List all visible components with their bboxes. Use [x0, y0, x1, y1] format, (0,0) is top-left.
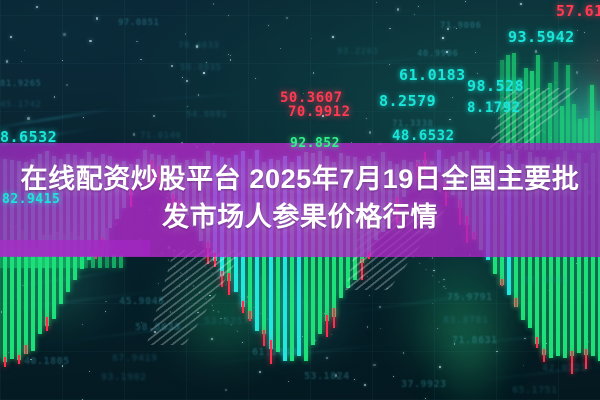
sparkle-dot	[271, 296, 272, 297]
sparkle-dot	[140, 59, 141, 60]
sparkle-dot	[597, 60, 598, 61]
sparkle-dot	[209, 295, 210, 296]
sparkle-dot	[397, 8, 399, 10]
sparkle-dot	[520, 3, 521, 4]
faint-price-label: 54.8891	[186, 110, 227, 120]
light-streak	[470, 364, 600, 382]
sparkle-dot	[475, 52, 476, 53]
candlestick-body	[590, 85, 594, 150]
sparkle-dot	[437, 328, 438, 329]
sparkle-dot	[379, 306, 380, 307]
faint-price-label: 75.9791	[447, 292, 493, 303]
sparkle-dot	[43, 266, 44, 267]
sparkle-dot	[331, 334, 332, 335]
candlestick-body	[536, 55, 540, 150]
candlestick-wick	[270, 340, 272, 364]
sparkle-dot	[302, 336, 303, 337]
sparkle-dot	[442, 37, 443, 38]
candlestick-wick	[501, 279, 503, 286]
sparkle-dot	[449, 119, 450, 120]
candlestick-wick	[326, 315, 328, 337]
sparkle-dot	[153, 115, 154, 116]
sparkle-dot	[432, 303, 433, 304]
sparkle-dot	[432, 257, 433, 258]
sparkle-dot	[257, 304, 258, 305]
sparkle-dot	[584, 32, 585, 33]
sparkle-dot	[322, 115, 323, 116]
sparkle-dot	[213, 3, 214, 4]
candlestick-wick	[333, 308, 335, 327]
sparkle-dot	[179, 286, 180, 287]
faint-price-label: 81.9265	[0, 79, 41, 89]
sparkle-dot	[326, 357, 328, 359]
candlestick-body	[512, 53, 516, 150]
faint-price-label: 65.1751	[512, 385, 558, 396]
sparkle-dot	[403, 352, 404, 353]
sparkle-dot	[228, 54, 229, 55]
banner-image: 97.085193.226340.990658.893581.926545.17…	[0, 0, 600, 400]
title-line-2: 发市场人参果价格行情	[0, 198, 600, 236]
light-streak	[420, 328, 600, 350]
sparkle-dot	[332, 36, 333, 37]
banner-title: 在线配资炒股平台 2025年7月19日全国主要批 发市场人参果价格行情	[0, 160, 600, 236]
sparkle-dot	[389, 28, 390, 29]
sparkle-dot	[54, 96, 55, 97]
faint-price-label: 71.3338	[392, 119, 433, 129]
sparkle-dot	[373, 364, 375, 366]
sparkle-dot	[170, 311, 171, 312]
candlestick-body	[506, 55, 510, 150]
sparkle-dot	[452, 97, 453, 98]
sparkle-dot	[354, 379, 355, 380]
sparkle-dot	[548, 290, 549, 291]
hatched-wedge	[146, 250, 243, 345]
sparkle-dot	[496, 351, 497, 352]
sparkle-dot	[22, 285, 23, 286]
sparkle-dot	[247, 296, 249, 298]
candlestick-wick	[18, 355, 20, 363]
sparkle-dot	[366, 118, 367, 119]
glow-bloom	[240, 260, 360, 360]
candlestick-body	[554, 62, 558, 150]
faint-price-label: 57.4635	[523, 275, 569, 286]
dotted-trend-line	[195, 256, 270, 319]
candlestick-wick	[543, 349, 545, 362]
sparkle-dot	[433, 270, 434, 271]
faint-price-label: 40.1805	[24, 356, 70, 367]
sparkle-dot	[203, 72, 204, 73]
faint-price-label: 97.0851	[118, 18, 159, 28]
sparkle-dot	[570, 337, 571, 338]
sparkle-dot	[324, 313, 325, 314]
candlestick-wick	[571, 351, 573, 374]
sparkle-dot	[446, 51, 447, 52]
sparkle-dot	[220, 318, 221, 319]
sparkle-dot	[89, 40, 91, 42]
price-label: 48.6532	[392, 128, 455, 144]
sparkle-dot	[186, 80, 188, 82]
sparkle-dot	[535, 50, 537, 52]
sparkle-dot	[96, 17, 98, 19]
sparkle-dot	[389, 64, 390, 65]
sparkle-dot	[369, 295, 370, 296]
candlestick-body	[518, 78, 522, 150]
faint-price-label: 58.8935	[180, 63, 221, 73]
sparkle-dot	[577, 30, 578, 31]
faint-price-label: 72.9021	[490, 100, 531, 110]
sparkle-dot	[83, 117, 84, 118]
light-streak	[0, 269, 129, 289]
sparkle-dot	[262, 278, 263, 279]
sparkle-dot	[133, 133, 135, 135]
sparkle-dot	[185, 33, 186, 34]
sparkle-dot	[66, 84, 68, 86]
sparkle-dot	[555, 82, 556, 83]
price-label: 8.1792	[467, 100, 521, 116]
sparkle-dot	[27, 117, 29, 119]
sparkle-dot	[196, 45, 198, 47]
candlestick-wick	[585, 349, 587, 369]
sparkle-dot	[523, 365, 524, 366]
sparkle-dot	[154, 331, 156, 333]
sparkle-dot	[21, 61, 22, 62]
dotted-trend-line	[499, 92, 555, 139]
sparkle-dot	[551, 352, 552, 353]
price-label: 93.5942	[508, 28, 575, 46]
sparkle-dot	[136, 41, 137, 42]
sparkle-dot	[299, 279, 300, 280]
sparkle-dot	[17, 295, 18, 296]
candlestick-wick	[25, 345, 27, 354]
sparkle-dot	[288, 381, 289, 382]
faint-price-label: 79.4033	[178, 41, 219, 51]
faint-price-label: 67.9419	[112, 353, 158, 364]
candlestick-wick	[515, 298, 517, 307]
sparkle-dot	[364, 384, 365, 385]
sparkle-dot	[387, 288, 388, 289]
sparkle-dot	[187, 106, 188, 107]
sparkle-dot	[82, 324, 83, 325]
sparkle-dot	[36, 6, 37, 7]
sparkle-dot	[545, 337, 546, 338]
sparkle-dot	[313, 72, 314, 73]
candlestick-wick	[4, 357, 6, 367]
sparkle-dot	[63, 33, 65, 35]
price-label: 8.2579	[379, 92, 436, 110]
sparkle-dot	[230, 55, 231, 56]
faint-price-label: 45.9045	[119, 296, 165, 307]
sparkle-dot	[198, 94, 199, 95]
sparkle-dot	[311, 38, 312, 39]
candlestick-wick	[228, 273, 230, 295]
faint-price-label: 53.8257	[204, 316, 250, 327]
sparkle-dot	[141, 322, 142, 323]
faint-price-label: 71.6146	[140, 131, 181, 141]
glow-bloom	[440, 355, 500, 400]
sparkle-dot	[447, 28, 448, 29]
sparkle-dot	[367, 276, 368, 277]
faint-price-label: 45.1742	[0, 100, 41, 110]
sparkle-dot	[228, 15, 229, 16]
sparkle-dot	[439, 366, 441, 368]
candlestick-wick	[242, 301, 244, 313]
sparkle-dot	[280, 48, 281, 49]
faint-price-label: 71.9006	[440, 21, 481, 31]
sparkle-dot	[242, 342, 243, 343]
sparkle-dot	[158, 283, 159, 284]
sparkle-dot	[454, 343, 455, 344]
sparkle-dot	[10, 36, 12, 38]
faint-price-label: 42.0723	[542, 363, 588, 374]
glow-bloom	[430, 300, 510, 390]
sparkle-dot	[443, 286, 444, 287]
sparkle-dot	[369, 131, 371, 133]
price-label: 61.0183	[399, 66, 466, 84]
candlestick-wick	[249, 311, 251, 321]
sparkle-dot	[89, 371, 90, 372]
sparkle-dot	[456, 28, 457, 29]
faint-price-label: 37.9923	[401, 379, 447, 390]
sparkle-dot	[105, 301, 106, 302]
sparkle-dot	[580, 267, 581, 268]
sparkle-dot	[552, 98, 553, 99]
sparkle-dot	[24, 307, 25, 308]
candlestick-wick	[263, 330, 265, 347]
sparkle-dot	[62, 365, 63, 366]
sparkle-dot	[320, 272, 321, 273]
price-label: 57.61	[556, 2, 600, 20]
sparkle-dot	[588, 341, 589, 342]
light-streak	[120, 91, 270, 103]
light-streak	[300, 52, 479, 70]
candlestick-wick	[221, 271, 223, 288]
glow-bloom	[575, 40, 600, 110]
sparkle-dot	[393, 376, 394, 377]
sparkle-dot	[171, 65, 173, 67]
sparkle-dot	[576, 71, 578, 73]
sparkle-dot	[433, 139, 434, 140]
sparkle-dot	[303, 93, 304, 94]
faint-price-label: 93.1902	[101, 372, 147, 383]
sparkle-dot	[1, 311, 2, 312]
sparkle-dot	[335, 374, 337, 376]
candlestick-body	[530, 71, 534, 150]
sparkle-dot	[582, 292, 583, 293]
sparkle-dot	[367, 326, 368, 327]
sparkle-dot	[414, 14, 415, 15]
sparkle-dot	[286, 17, 287, 18]
sparkle-dot	[182, 77, 183, 78]
sparkle-dot	[259, 371, 260, 372]
price-label: 98.528	[467, 77, 524, 95]
sparkle-dot	[277, 349, 279, 351]
sparkle-dot	[225, 389, 226, 390]
sparkle-dot	[211, 338, 213, 340]
candlestick-body	[548, 83, 552, 150]
sparkle-dot	[425, 398, 426, 399]
sparkle-dot	[24, 50, 25, 51]
candlestick-wick	[536, 337, 538, 348]
glow-bloom	[380, 250, 540, 380]
price-label: 70.9912	[288, 104, 351, 120]
sparkle-dot	[380, 328, 381, 329]
sparkle-dot	[418, 6, 419, 7]
sparkle-dot	[515, 291, 517, 293]
sparkle-dot	[197, 312, 198, 313]
sparkle-dot	[515, 92, 517, 94]
sparkle-dot	[465, 1, 466, 2]
title-line-1: 在线配资炒股平台 2025年7月19日全国主要批	[0, 160, 600, 198]
sparkle-dot	[6, 60, 8, 62]
sparkle-dot	[494, 112, 495, 113]
faint-price-label: 53.1824	[304, 371, 350, 382]
sparkle-dot	[24, 307, 25, 308]
sparkle-dot	[268, 25, 269, 26]
dotted-trend-line	[159, 248, 245, 336]
sparkle-dot	[314, 340, 315, 341]
sparkle-dot	[105, 311, 106, 312]
light-streak	[0, 290, 159, 313]
sparkle-dot	[477, 73, 478, 74]
sparkle-dot	[420, 100, 421, 101]
sparkle-dot	[262, 288, 263, 289]
sparkle-dot	[443, 279, 444, 280]
faint-price-label: 61.2048	[252, 347, 298, 358]
light-streak	[61, 319, 240, 343]
sparkle-dot	[8, 352, 9, 353]
candlestick-body	[566, 65, 570, 150]
sparkle-dot	[507, 118, 508, 119]
glow-bloom	[150, 250, 300, 370]
sparkle-dot	[62, 60, 63, 61]
sparkle-dot	[230, 59, 231, 60]
faint-price-label: 93.2263	[337, 47, 378, 57]
sparkle-dot	[545, 343, 546, 344]
sparkle-dot	[255, 78, 256, 79]
sparkle-dot	[376, 2, 377, 3]
candlestick-body	[524, 68, 528, 150]
sparkle-dot	[576, 263, 577, 264]
candlestick-body	[500, 60, 504, 150]
sparkle-dot	[206, 62, 207, 63]
candlestick-wick	[46, 317, 48, 332]
price-label: 50.3607	[280, 90, 343, 106]
sparkle-dot	[441, 139, 442, 140]
faint-price-label: 83.8781	[443, 315, 489, 326]
sparkle-dot	[213, 310, 214, 311]
light-streak	[0, 107, 119, 131]
faint-price-label: 58.8633	[135, 322, 181, 333]
light-streak	[200, 341, 409, 365]
light-streak	[331, 286, 529, 316]
faint-price-label: 40.9906	[417, 49, 458, 59]
sparkle-dot	[30, 359, 31, 360]
candlestick-wick	[361, 259, 363, 280]
faint-price-label: 71.8631	[452, 335, 498, 346]
sparkle-dot	[524, 338, 525, 339]
hatched-wedge	[488, 88, 577, 148]
candlestick-body	[542, 91, 546, 150]
